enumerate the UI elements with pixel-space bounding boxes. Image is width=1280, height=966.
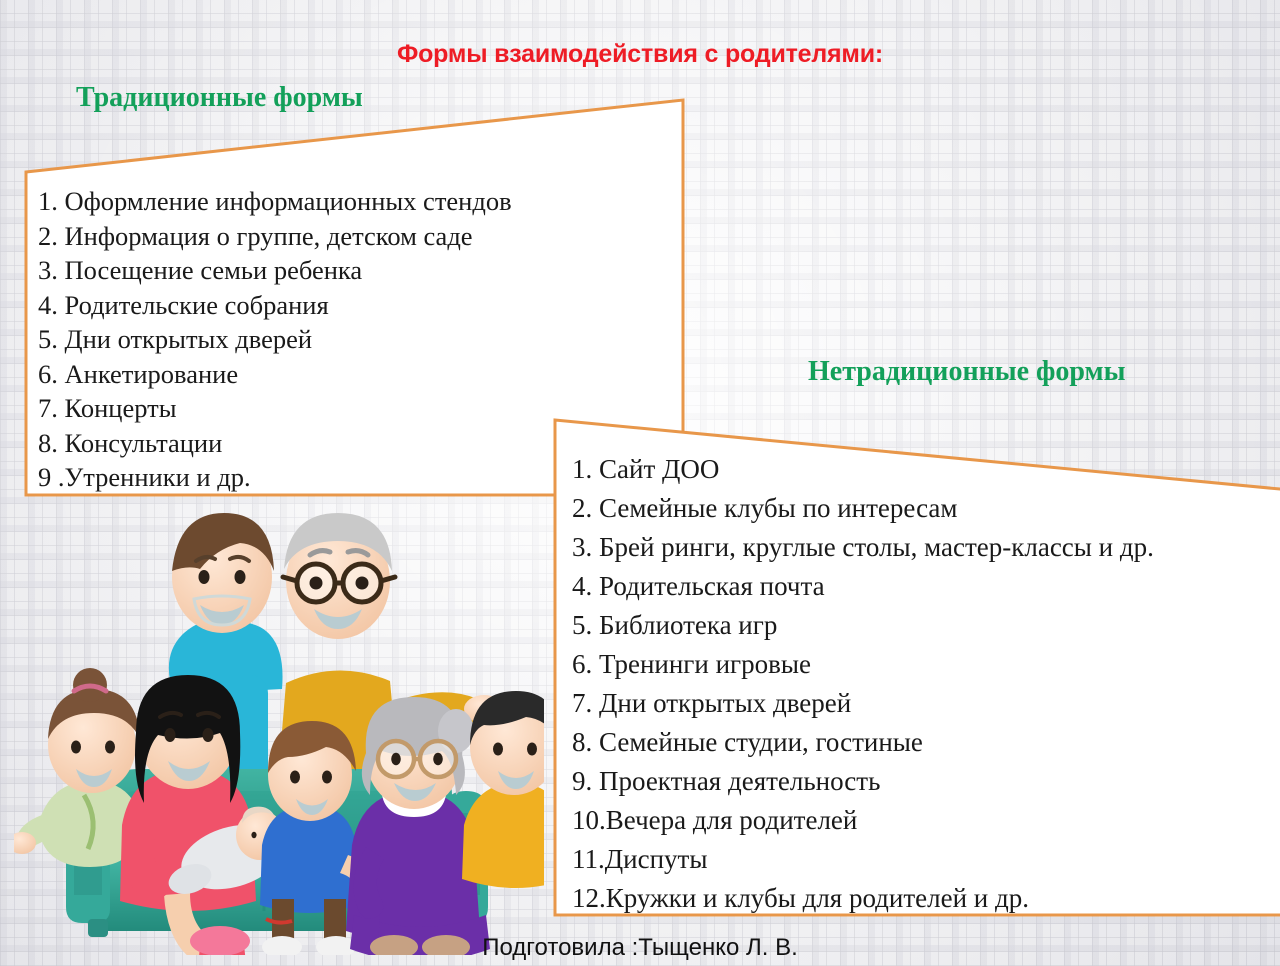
list-item: 9. Проектная деятельность <box>572 762 1154 801</box>
family-on-sofa-illustration <box>14 495 544 955</box>
presentation-slide: Формы взаимодействия с родителями: Тради… <box>0 0 1280 966</box>
left-section-heading: Традиционные формы <box>76 82 363 114</box>
list-item: 1. Оформление информационных стендов <box>38 184 512 219</box>
list-item: 4. Родительские собрания <box>38 288 512 323</box>
list-item: 3. Брей ринги, круглые столы, мастер-кла… <box>572 528 1154 567</box>
list-item: 6. Анкетирование <box>38 357 512 392</box>
author-credit: Подготовила :Тыщенко Л. В. <box>0 934 1280 962</box>
list-item: 7. Концерты <box>38 391 512 426</box>
list-item: 2. Информация о группе, детском саде <box>38 219 512 254</box>
list-item: 3. Посещение семьи ребенка <box>38 253 512 288</box>
list-item: 11.Диспуты <box>572 840 1154 879</box>
list-item: 2. Семейные клубы по интересам <box>572 489 1154 528</box>
list-item: 4. Родительская почта <box>572 567 1154 606</box>
list-item: 5. Дни открытых дверей <box>38 322 512 357</box>
traditional-forms-list: 1. Оформление информационных стендов 2. … <box>38 184 512 495</box>
list-item: 12.Кружки и клубы для родителей и др. <box>572 879 1154 918</box>
list-item: 1. Сайт ДОО <box>572 450 1154 489</box>
page-title: Формы взаимодействия с родителями: <box>0 40 1280 69</box>
list-item: 7. Дни открытых дверей <box>572 684 1154 723</box>
right-section-heading: Нетрадиционные формы <box>808 356 1125 388</box>
list-item: 8. Консультации <box>38 426 512 461</box>
figure-boy-right <box>462 691 544 888</box>
list-item: 9 .Утренники и др. <box>38 460 512 495</box>
list-item: 6. Тренинги игровые <box>572 645 1154 684</box>
list-item: 10.Вечера для родителей <box>572 801 1154 840</box>
nontraditional-forms-list: 1. Сайт ДОО 2. Семейные клубы по интерес… <box>572 450 1154 918</box>
list-item: 8. Семейные студии, гостиные <box>572 723 1154 762</box>
list-item: 5. Библиотека игр <box>572 606 1154 645</box>
